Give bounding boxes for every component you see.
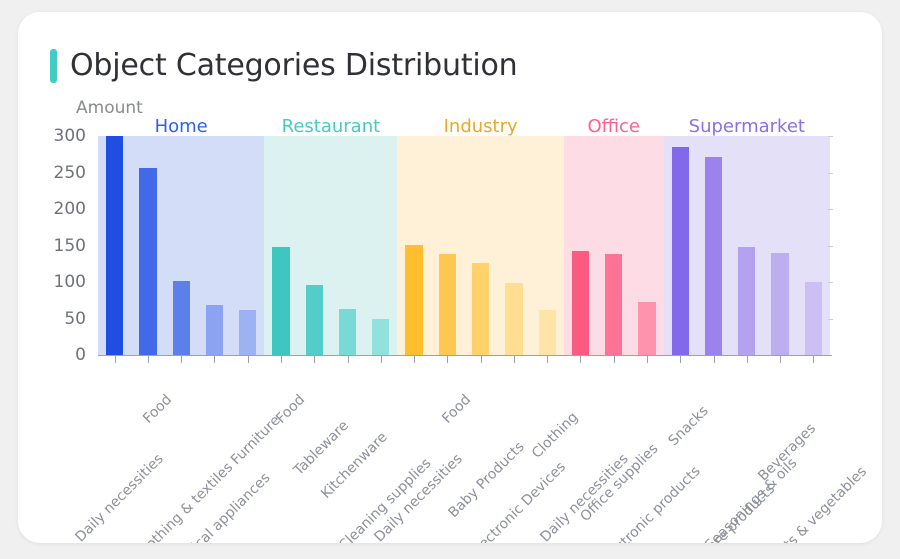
bar[interactable]	[272, 247, 289, 355]
x-tick-mark	[680, 356, 681, 363]
y-tick-250: 250	[26, 163, 86, 183]
bar[interactable]	[239, 310, 256, 355]
x-tick-label: Food	[439, 392, 474, 427]
y-tick-300: 300	[26, 126, 86, 146]
x-tick-mark	[780, 356, 781, 363]
bar[interactable]	[771, 253, 788, 355]
group-label-industry: Industry	[444, 116, 518, 137]
bar[interactable]	[306, 285, 323, 355]
y-tick-0: 0	[26, 345, 86, 365]
x-tick-label: Seasonings & oils	[702, 455, 800, 543]
x-tick-label: Snacks	[666, 403, 712, 449]
bar[interactable]	[372, 319, 389, 356]
grid-tick	[828, 246, 833, 247]
bar[interactable]	[139, 168, 156, 355]
x-tick-label: Food	[140, 392, 175, 427]
y-tick-50: 50	[26, 309, 86, 329]
bar[interactable]	[539, 310, 556, 355]
bar[interactable]	[439, 254, 456, 355]
bar[interactable]	[672, 147, 689, 355]
grid-tick	[828, 319, 833, 320]
chart-card: Object Categories Distribution Amount 05…	[18, 12, 882, 543]
bar[interactable]	[206, 305, 223, 355]
bar[interactable]	[605, 254, 622, 355]
x-tick-mark	[148, 356, 149, 363]
x-tick-mark	[281, 356, 282, 363]
x-tick-mark	[614, 356, 615, 363]
x-tick-mark	[481, 356, 482, 363]
group-label-office: Office	[587, 116, 640, 137]
x-tick-mark	[747, 356, 748, 363]
bar[interactable]	[638, 302, 655, 355]
x-tick-label: Clothing	[529, 409, 582, 462]
bar-chart: Amount 050100150200250300 HomeRestaurant…	[18, 12, 882, 543]
bar[interactable]	[738, 247, 755, 355]
y-axis-title: Amount	[76, 98, 143, 118]
x-tick-mark	[547, 356, 548, 363]
x-tick-mark	[514, 356, 515, 363]
group-label-home: Home	[155, 116, 208, 137]
bar[interactable]	[339, 309, 356, 355]
x-tick-mark	[348, 356, 349, 363]
x-axis-line	[98, 355, 832, 356]
y-tick-200: 200	[26, 199, 86, 219]
x-tick-mark	[181, 356, 182, 363]
x-tick-mark	[647, 356, 648, 363]
x-tick-mark	[248, 356, 249, 363]
bar[interactable]	[705, 157, 722, 355]
x-tick-mark	[115, 356, 116, 363]
x-tick-label: Furniture	[228, 412, 284, 468]
y-tick-150: 150	[26, 236, 86, 256]
plot-area	[98, 136, 830, 355]
y-tick-100: 100	[26, 272, 86, 292]
bar[interactable]	[805, 282, 822, 355]
bar[interactable]	[505, 283, 522, 355]
x-tick-mark	[714, 356, 715, 363]
grid-tick	[828, 173, 833, 174]
bar[interactable]	[572, 251, 589, 355]
bar[interactable]	[405, 245, 422, 355]
group-label-restaurant: Restaurant	[282, 116, 381, 137]
x-tick-mark	[381, 356, 382, 363]
grid-tick	[828, 209, 833, 210]
grid-tick	[828, 282, 833, 283]
group-label-supermarket: Supermarket	[689, 116, 805, 137]
bar[interactable]	[472, 263, 489, 355]
x-tick-mark	[314, 356, 315, 363]
x-tick-mark	[414, 356, 415, 363]
bar[interactable]	[106, 136, 123, 355]
grid-tick	[828, 136, 833, 137]
x-tick-label: Food	[273, 392, 308, 427]
x-tick-mark	[214, 356, 215, 363]
x-tick-mark	[580, 356, 581, 363]
x-tick-mark	[813, 356, 814, 363]
bar[interactable]	[173, 281, 190, 355]
x-tick-label: Daily necessities	[72, 451, 166, 543]
x-tick-mark	[447, 356, 448, 363]
